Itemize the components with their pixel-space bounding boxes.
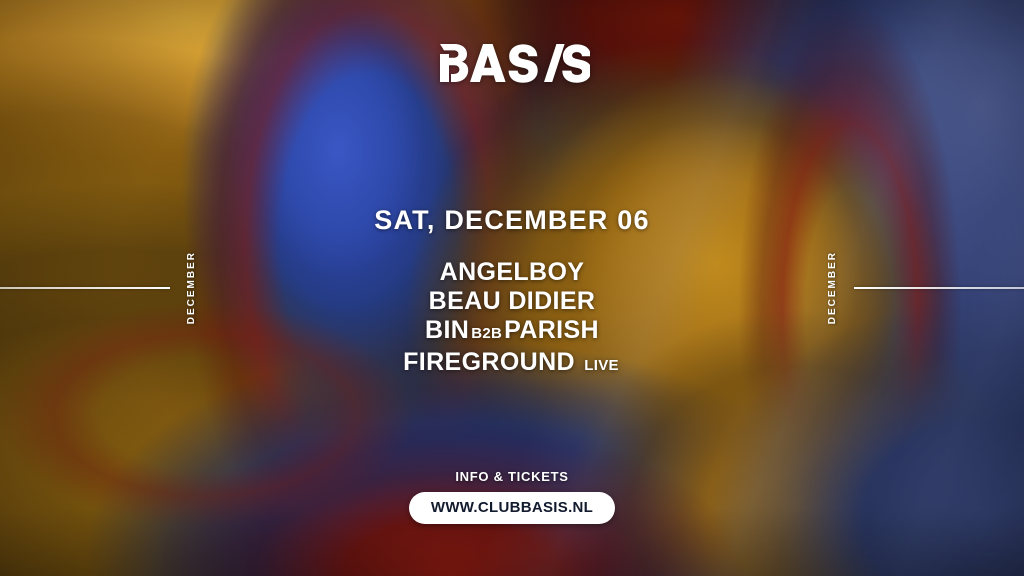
lineup-list: ANGELBOY BEAU DIDIER BINB2BPARISH FIREGR… [0,258,1024,380]
artist-name: FIREGROUND [403,348,575,376]
flyer-content: SAT, DECEMBER 06 ANGELBOY BEAU DIDIER BI… [0,0,1024,576]
vertical-label-december-left: DECEMBER [186,251,197,324]
artist-modifier-live: LIVE [582,357,621,374]
lineup-item-angelboy: ANGELBOY [0,258,1024,287]
divider-rule-left [0,287,170,289]
vertical-label-december-right: DECEMBER [827,251,838,324]
artist-name: BEAU DIDIER [429,287,596,315]
artist-modifier-b2b: B2B [469,325,504,342]
event-date: SAT, DECEMBER 06 [0,205,1024,236]
lineup-item-bin-b2b-parish: BINB2BPARISH [0,316,1024,348]
artist-name: ANGELBOY [440,258,585,286]
artist-name: BIN [425,316,469,344]
footer: INFO & TICKETS WWW.CLUBBASIS.NL [0,469,1024,524]
lineup-item-fireground: FIREGROUND LIVE [0,348,1024,380]
artist-name-secondary: PARISH [504,316,599,344]
event-flyer: SAT, DECEMBER 06 ANGELBOY BEAU DIDIER BI… [0,0,1024,576]
lineup-item-beau-didier: BEAU DIDIER [0,287,1024,316]
logo-wrapper [0,38,1024,88]
info-tickets-label: INFO & TICKETS [455,469,568,484]
basis-logo-icon [434,38,590,88]
divider-rule-right [854,287,1024,289]
website-url-button[interactable]: WWW.CLUBBASIS.NL [409,492,615,524]
